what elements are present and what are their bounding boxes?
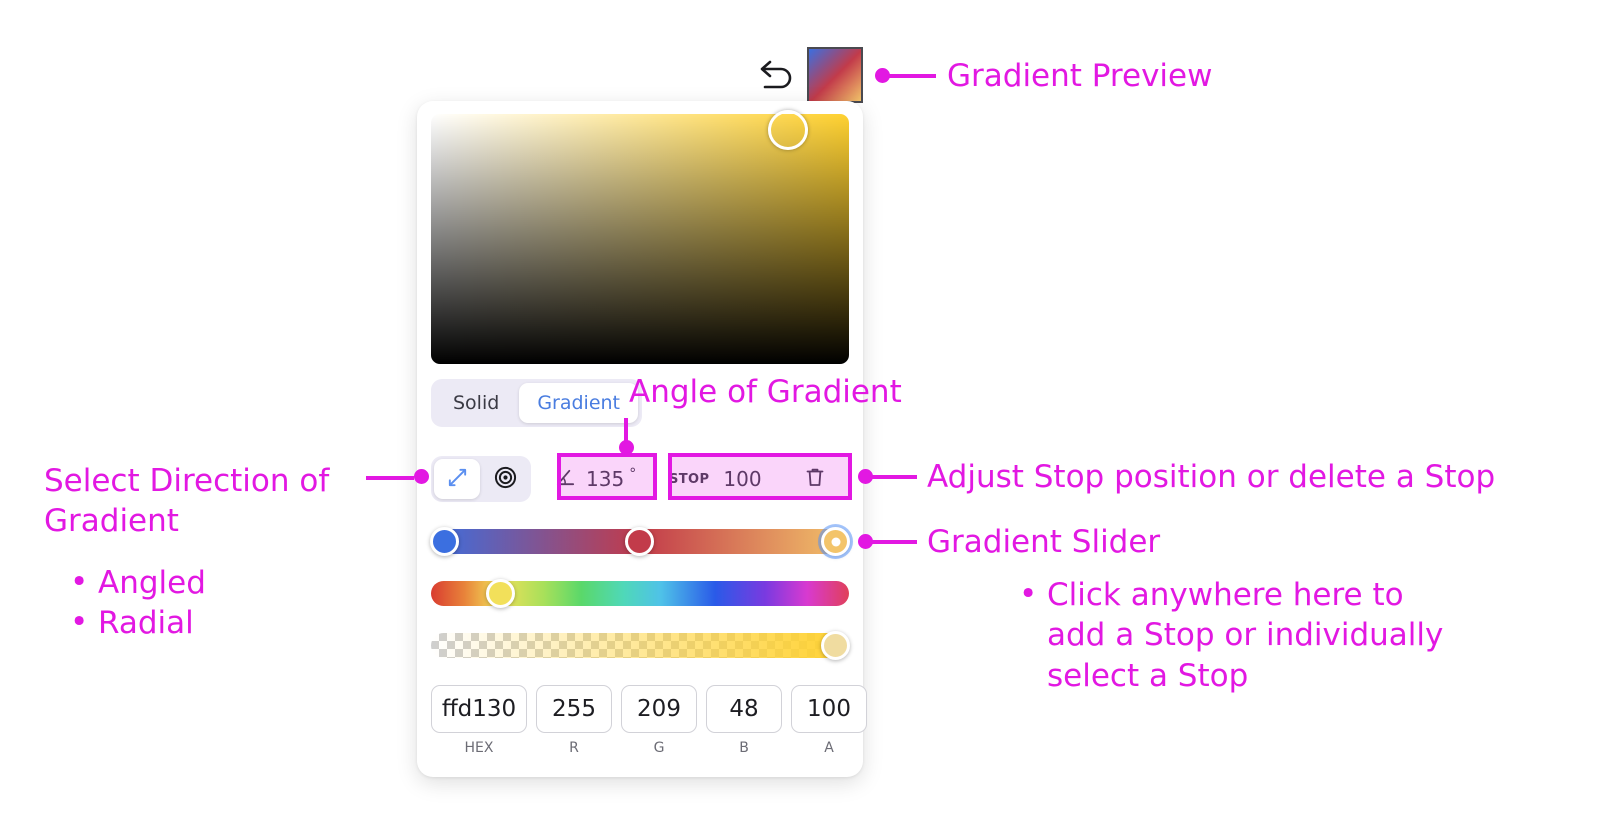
- anno-line-direction: [366, 476, 414, 480]
- gradient-stop-selected-dot: [831, 537, 840, 546]
- anno-angle-of-gradient: Angle of Gradient: [629, 373, 902, 413]
- hex-caption: HEX: [465, 740, 494, 756]
- anno-line-adjust-stop: [872, 475, 917, 479]
- gradient-stop-thumb[interactable]: [625, 527, 654, 556]
- alpha-caption: A: [824, 740, 834, 756]
- hue-slider-thumb[interactable]: [486, 579, 515, 608]
- anno-select-direction: Select Direction of Gradient: [44, 462, 374, 541]
- saturation-value-cursor[interactable]: [768, 110, 808, 150]
- gradient-direction-radial-button[interactable]: [482, 459, 528, 499]
- blue-caption: B: [739, 740, 749, 756]
- alpha-slider[interactable]: [431, 633, 849, 658]
- gradient-preview-swatch[interactable]: [807, 47, 863, 103]
- anno-slider-note: Click anywhere here to add a Stop or ind…: [1013, 575, 1443, 696]
- alpha-input[interactable]: 100: [791, 685, 867, 733]
- saturation-value-area[interactable]: [431, 114, 849, 364]
- green-input[interactable]: 209: [621, 685, 697, 733]
- anno-adjust-stop: Adjust Stop position or delete a Stop: [927, 458, 1495, 498]
- color-picker-panel: Solid Gradient: [417, 101, 863, 777]
- gradient-direction-angled-button[interactable]: [434, 459, 480, 499]
- green-caption: G: [654, 740, 665, 756]
- color-value-fields: ffd130 HEX 255 R 209 G 48 B 100 A: [431, 685, 849, 756]
- color-mode-segmented-control: Solid Gradient: [431, 379, 642, 427]
- red-input[interactable]: 255: [536, 685, 612, 733]
- anno-gradient-slider: Gradient Slider: [927, 523, 1160, 563]
- anno-line-gradient-slider: [872, 540, 917, 544]
- anno-gradient-preview: Gradient Preview: [947, 57, 1212, 97]
- anno-dot-adjust-stop: [858, 469, 873, 484]
- blue-field-cell: 48 B: [706, 685, 782, 756]
- alpha-field-cell: 100 A: [791, 685, 867, 756]
- anno-direction-options: Angled Radial: [64, 563, 206, 644]
- anno-dot-gradient-slider: [858, 534, 873, 549]
- gradient-direction-group: [431, 456, 531, 502]
- concentric-circles-icon: [493, 465, 518, 494]
- hex-field-cell: ffd130 HEX: [431, 685, 527, 756]
- anno-dot-direction: [414, 469, 429, 484]
- green-field-cell: 209 G: [621, 685, 697, 756]
- red-field-cell: 255 R: [536, 685, 612, 756]
- gradient-stop-thumb[interactable]: [430, 527, 459, 556]
- anno-line-gradient-preview: [888, 74, 936, 78]
- tab-gradient[interactable]: Gradient: [519, 383, 638, 423]
- gradient-stop-thumb-selected[interactable]: [821, 527, 850, 556]
- tab-solid[interactable]: Solid: [435, 383, 517, 423]
- anno-box-stop: [668, 453, 852, 500]
- hex-input[interactable]: ffd130: [431, 685, 527, 733]
- anno-direction-option-angled: Angled: [64, 563, 206, 603]
- diagonal-arrow-icon: [446, 466, 469, 493]
- alpha-slider-thumb[interactable]: [821, 631, 850, 660]
- undo-icon[interactable]: [757, 52, 799, 94]
- hue-slider[interactable]: [431, 581, 849, 606]
- anno-dot-angle: [619, 440, 634, 455]
- anno-direction-option-radial: Radial: [64, 603, 206, 643]
- red-caption: R: [569, 740, 579, 756]
- anno-slider-notes: Click anywhere here to add a Stop or ind…: [1013, 575, 1443, 696]
- anno-box-angle: [557, 453, 657, 500]
- gradient-stop-slider[interactable]: [431, 529, 849, 554]
- blue-input[interactable]: 48: [706, 685, 782, 733]
